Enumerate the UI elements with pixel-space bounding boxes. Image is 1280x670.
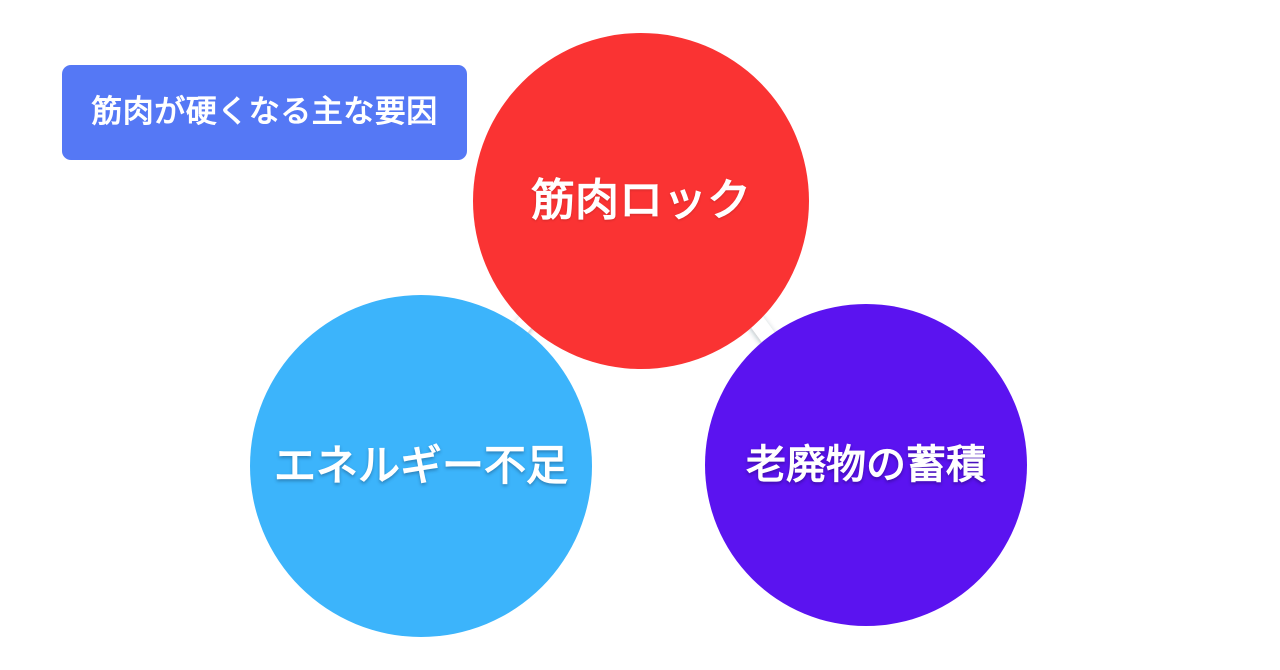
diagram-canvas: 筋肉が硬くなる主な要因 筋肉ロック エネルギー不足 老廃物の蓄積 [0,0,1280,670]
node-waste-accumulation: 老廃物の蓄積 [705,304,1027,626]
node-muscle-lock: 筋肉ロック [473,33,809,369]
title-badge-label: 筋肉が硬くなる主な要因 [91,95,438,129]
node-muscle-lock-label: 筋肉ロック [531,176,751,227]
title-badge: 筋肉が硬くなる主な要因 [62,65,467,160]
node-energy-shortage-label: エネルギー不足 [274,442,568,490]
node-waste-accumulation-label: 老廃物の蓄積 [746,442,986,488]
node-energy-shortage: エネルギー不足 [250,295,592,637]
